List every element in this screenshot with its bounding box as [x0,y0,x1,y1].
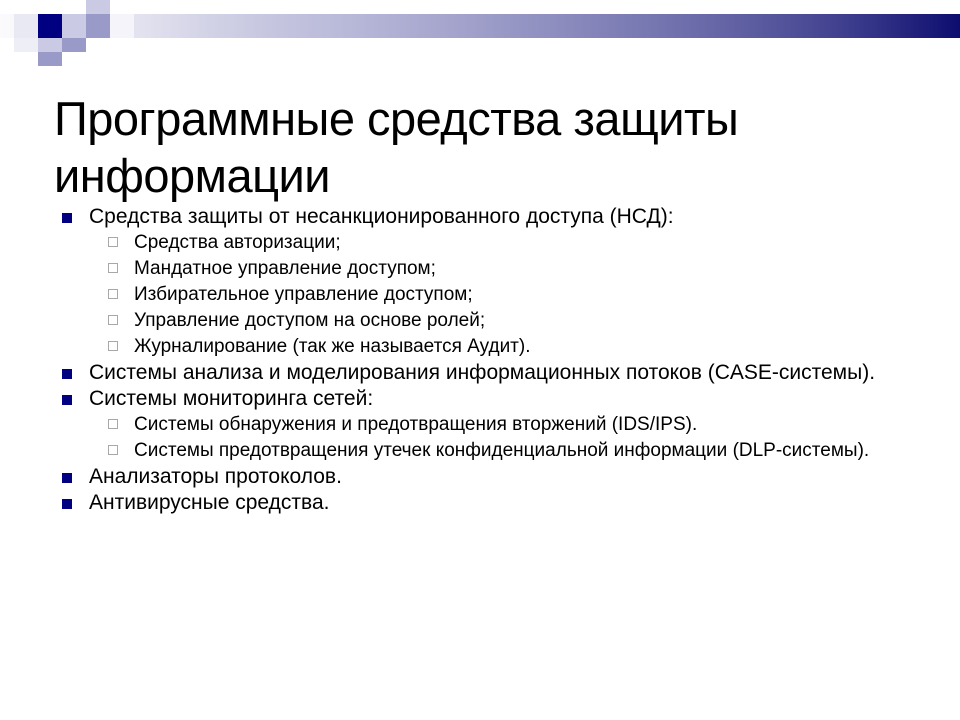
bullet-item-level1: Антивирусные средства. [0,490,960,515]
banner-mosaic-square-mid-b [62,38,86,52]
filled-square-bullet-icon [62,473,72,483]
banner-gradient-bar [0,14,960,38]
bullet-item-level1: Средства защиты от несанкционированного … [0,204,960,229]
banner-mosaic-square-light-a [38,38,62,52]
bullet-item-level1: Анализаторы протоколов. [0,464,960,489]
page-title: Программные средства защиты информации [54,91,754,204]
bullet-item-level2: Журналирование (так же называется Аудит)… [0,334,960,359]
banner-mosaic-square-pale-lower-left [14,38,38,52]
hollow-square-bullet-icon [108,341,118,351]
filled-square-bullet-icon [62,499,72,509]
banner-mosaic-square-pale-left [14,14,38,38]
hollow-square-bullet-icon [108,237,118,247]
hollow-square-bullet-icon [108,419,118,429]
bullet-item-label: Системы мониторинга сетей: [89,386,373,411]
hollow-square-bullet-icon [108,289,118,299]
bullet-item-label: Средства авторизации; [134,230,341,255]
hollow-square-bullet-icon [108,445,118,455]
filled-square-bullet-icon [62,369,72,379]
bullet-item-level2: Избирательное управление доступом; [0,282,960,307]
hollow-square-bullet-icon [108,263,118,273]
banner-mosaic-square-mid-a [38,52,62,66]
bullet-item-label: Журналирование (так же называется Аудит)… [134,334,531,359]
bullet-item-level2: Управление доступом на основе ролей; [0,308,960,333]
bullet-item-label: Антивирусные средства. [89,490,329,515]
bullet-item-label: Средства защиты от несанкционированного … [89,204,674,229]
bullet-item-label: Управление доступом на основе ролей; [134,308,485,333]
bullet-item-level2: Системы обнаружения и предотвращения вто… [0,412,960,437]
banner-mosaic-square-white-a [62,0,86,14]
bullet-item-level2: Мандатное управление доступом; [0,256,960,281]
banner-mosaic-square-pale-right [110,14,134,38]
slide-body-list: Средства защиты от несанкционированного … [0,204,960,516]
bullet-item-label: Системы анализа и моделирования информац… [89,360,875,385]
banner-mosaic-square-white-b [86,38,110,52]
slide-header-banner [0,0,960,52]
bullet-item-label: Системы обнаружения и предотвращения вто… [134,412,697,437]
banner-accent-square [38,14,62,38]
hollow-square-bullet-icon [108,315,118,325]
bullet-item-label: Анализаторы протоколов. [89,464,342,489]
bullet-item-label: Системы предотвращения утечек конфиденци… [134,438,869,463]
filled-square-bullet-icon [62,213,72,223]
filled-square-bullet-icon [62,395,72,405]
bullet-item-label: Избирательное управление доступом; [134,282,473,307]
bullet-item-level2: Системы предотвращения утечек конфиденци… [0,438,960,463]
banner-mosaic-square-mid-c [86,14,110,38]
bullet-item-level1: Системы анализа и моделирования информац… [0,360,960,385]
bullet-item-label: Мандатное управление доступом; [134,256,436,281]
bullet-item-level2: Средства авторизации; [0,230,960,255]
banner-mosaic-square-light-c [86,0,110,14]
bullet-item-level1: Системы мониторинга сетей: [0,386,960,411]
banner-mosaic-square-light-b [62,14,86,38]
